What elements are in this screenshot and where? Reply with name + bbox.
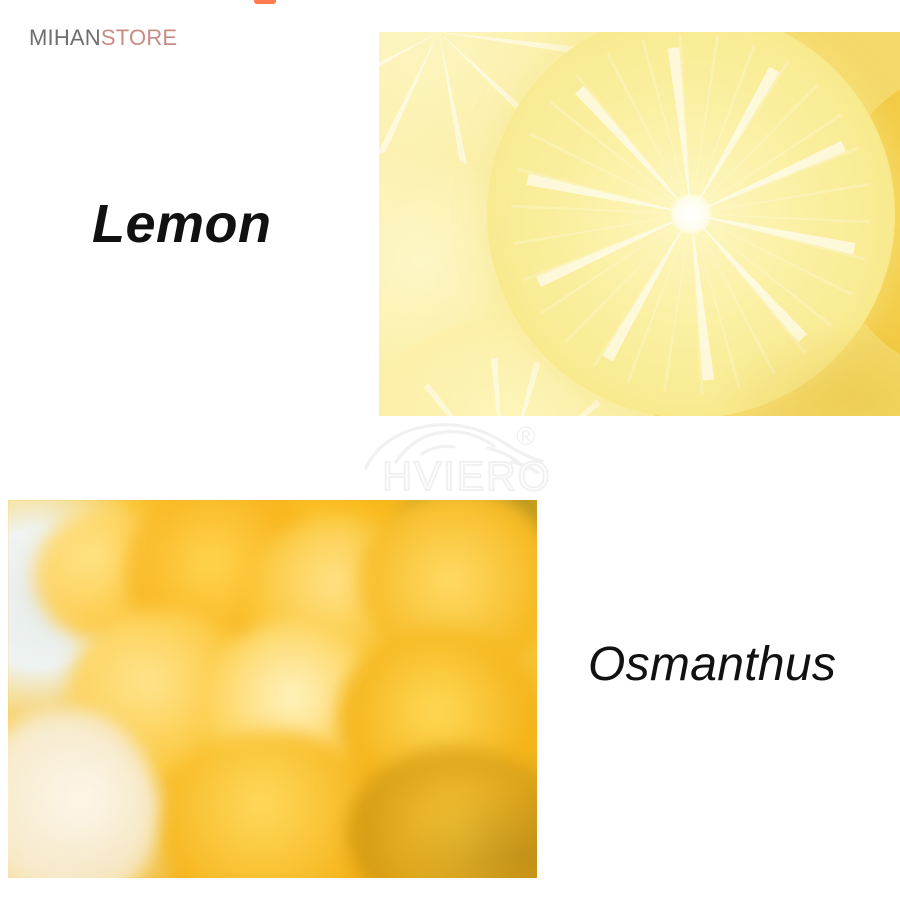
watermark: ® HVIERO bbox=[352, 418, 582, 498]
lemon-slice-core bbox=[669, 194, 713, 234]
product-image-page: MIHANSTORE Lemon Osman bbox=[0, 0, 900, 900]
brand-logo-part-one: MIHAN bbox=[29, 25, 101, 50]
lemon-photo bbox=[379, 32, 900, 416]
car-silhouette-icon bbox=[362, 418, 562, 474]
top-accent-sliver bbox=[254, 0, 276, 4]
lemon-slice-main bbox=[487, 32, 895, 416]
osmanthus-photo bbox=[8, 500, 537, 878]
registered-trademark-icon: ® bbox=[516, 423, 535, 449]
brand-logo: MIHANSTORE bbox=[29, 27, 177, 49]
brand-logo-part-two: STORE bbox=[101, 25, 177, 50]
lemon-label: Lemon bbox=[92, 197, 272, 251]
watermark-text: HVIERO bbox=[352, 456, 582, 497]
osmanthus-label: Osmanthus bbox=[588, 641, 836, 689]
